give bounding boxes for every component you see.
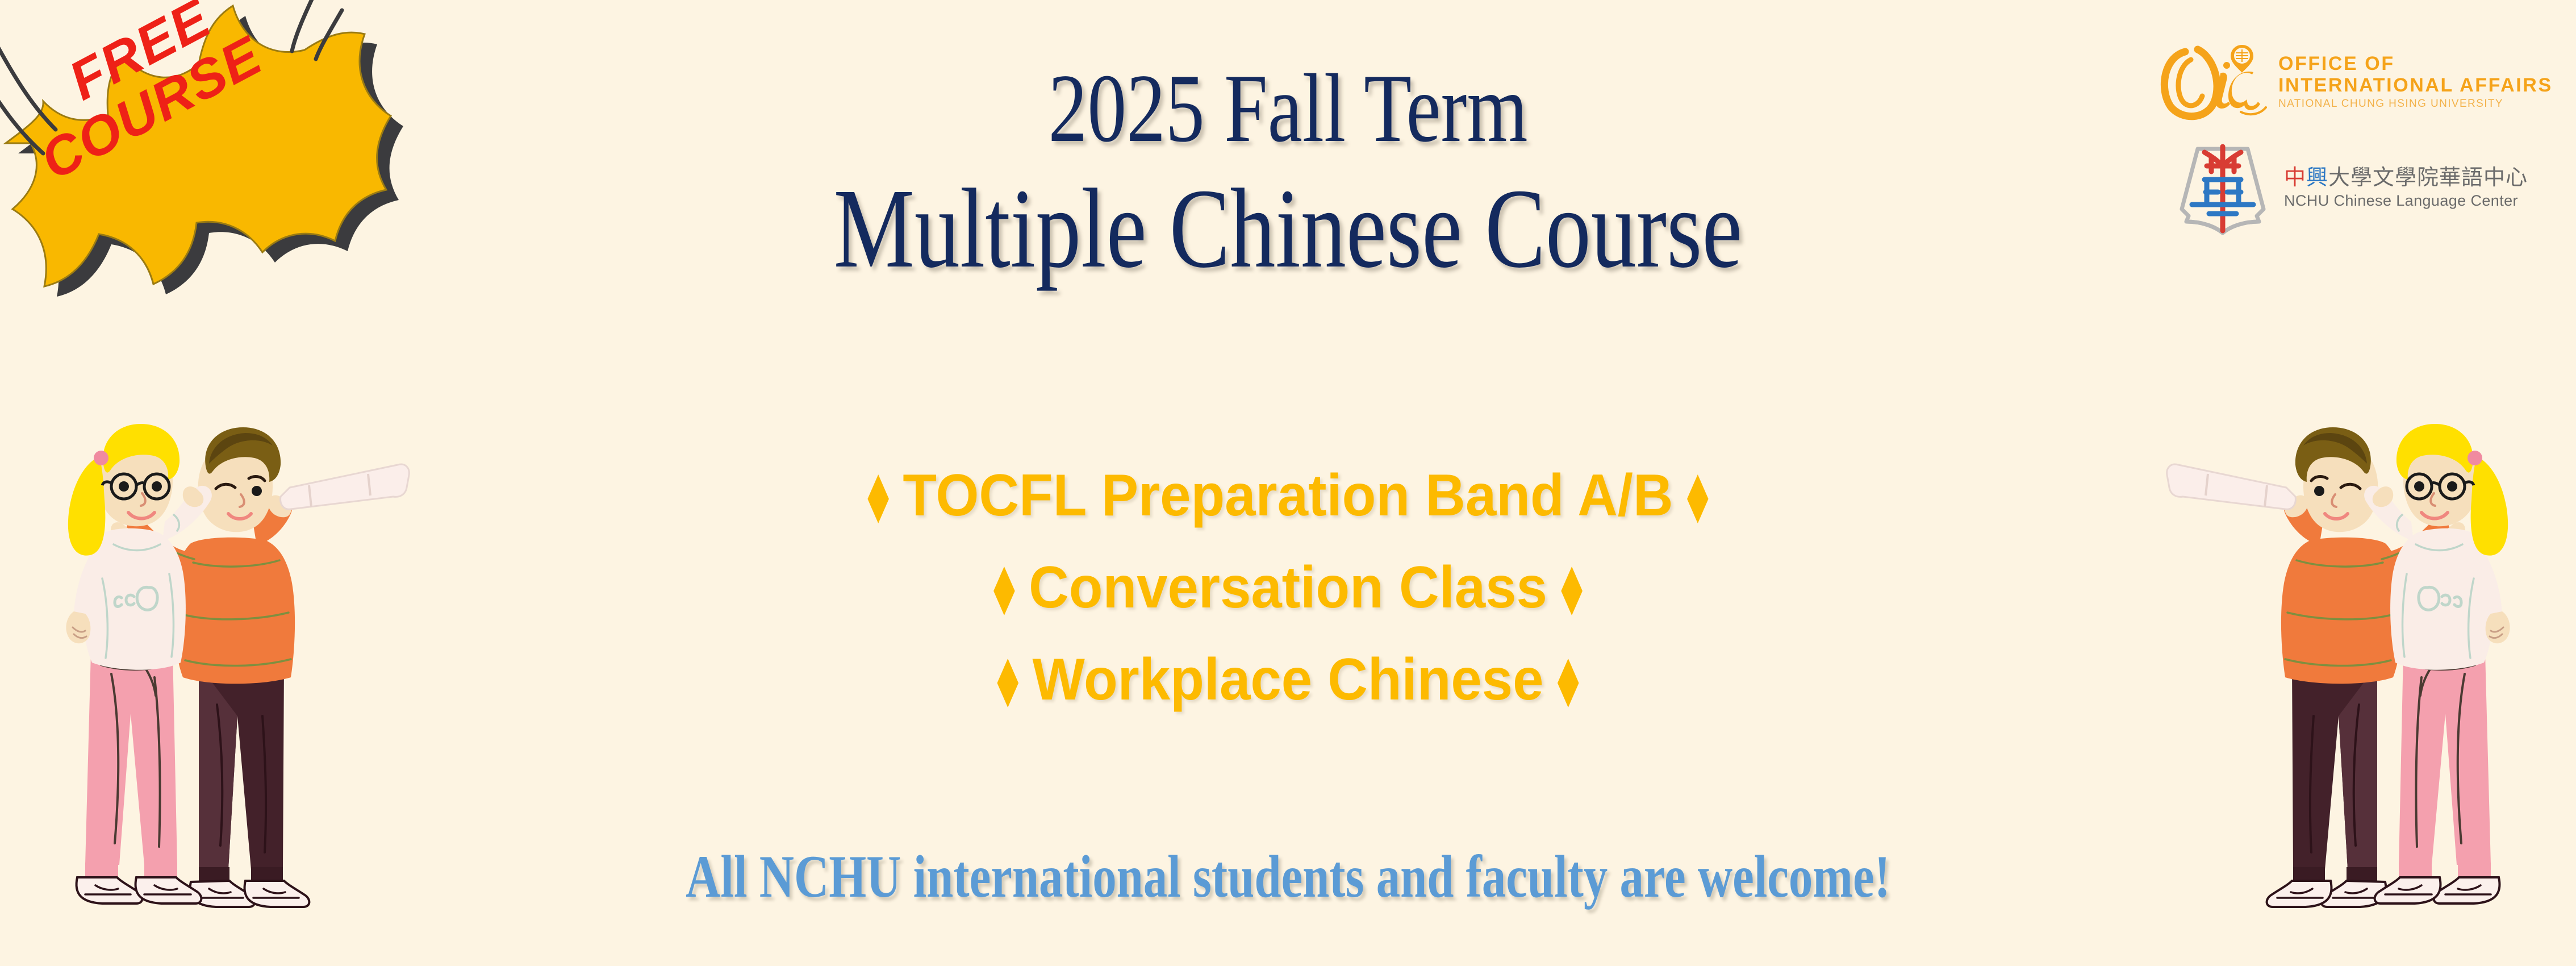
chinese-language-center-logo[interactable]: 中興大學文學院華語中心 NCHU Chinese Language Center xyxy=(2172,135,2565,240)
title-line-2: Multiple Chinese Course xyxy=(258,172,2319,286)
oia-logo[interactable]: OFFICE OF INTERNATIONAL AFFAIRS NATIONAL… xyxy=(2156,37,2565,122)
logo-stack: OFFICE OF INTERNATIONAL AFFAIRS NATIONAL… xyxy=(2156,37,2565,240)
course-label-2: Conversation Class xyxy=(1029,555,1547,621)
clc-chinese-name: 中興大學文學院華語中心 xyxy=(2284,165,2528,191)
clc-char-rest: 大學文學院華語中心 xyxy=(2328,165,2528,190)
welcome-message: All NCHU international students and facu… xyxy=(258,847,2319,907)
clc-wordmark: 中興大學文學院華語中心 NCHU Chinese Language Center xyxy=(2284,165,2528,210)
course-label-1: TOCFL Preparation Band A/B xyxy=(903,463,1673,528)
clc-char-xing: 興 xyxy=(2306,165,2328,190)
diamond-bullet-icon xyxy=(1561,567,1583,615)
oia-line-2: INTERNATIONAL AFFAIRS xyxy=(2278,74,2553,96)
free-course-badge: FREE COURSE xyxy=(0,0,432,392)
promo-banner: FREE COURSE xyxy=(0,0,2576,966)
course-item-3: Workplace Chinese xyxy=(77,650,2499,709)
oia-line-3: NATIONAL CHUNG HSING UNIVERSITY xyxy=(2278,98,2553,110)
course-item-1: TOCFL Preparation Band A/B xyxy=(77,466,2499,525)
oia-line-1: OFFICE OF xyxy=(2278,53,2553,74)
illustration-students-left xyxy=(28,398,426,960)
diamond-bullet-icon xyxy=(993,567,1015,615)
title-line-1: 2025 Fall Term xyxy=(258,60,2319,157)
oia-script-mark-icon xyxy=(2156,37,2269,122)
clc-char-zhong: 中 xyxy=(2284,165,2306,190)
course-label-3: Workplace Chinese xyxy=(1032,647,1543,713)
course-item-2: Conversation Class xyxy=(77,558,2499,617)
oia-pin-emblem-icon xyxy=(2231,45,2253,73)
diamond-bullet-icon xyxy=(1558,659,1579,707)
illustration-students-right xyxy=(2150,398,2548,960)
diamond-bullet-icon xyxy=(1687,474,1709,523)
diamond-bullet-icon xyxy=(997,659,1018,707)
nchu-book-emblem-icon xyxy=(2172,136,2274,239)
oia-wordmark: OFFICE OF INTERNATIONAL AFFAIRS NATIONAL… xyxy=(2278,49,2553,110)
diamond-bullet-icon xyxy=(867,474,889,523)
clc-english-name: NCHU Chinese Language Center xyxy=(2284,191,2528,210)
